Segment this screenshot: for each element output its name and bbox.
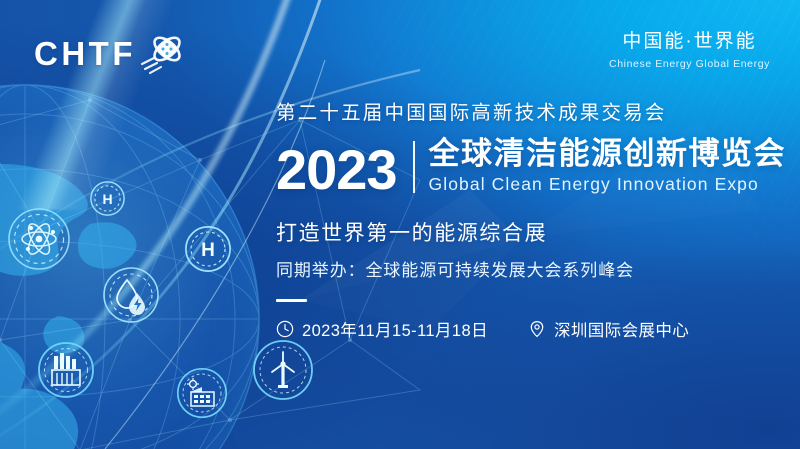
- svg-text:H: H: [201, 240, 215, 261]
- badge-water-energy: [103, 267, 159, 323]
- brand-en-text: Chinese Energy Global Energy: [609, 58, 770, 70]
- logo-wordmark: CHTF: [34, 37, 136, 70]
- hydrogen-h-icon: H: [90, 181, 125, 216]
- event-year: 2023: [276, 144, 397, 196]
- event-kicker: 第二十五届中国国际高新技术成果交易会: [276, 104, 786, 124]
- clock-icon: [276, 320, 294, 338]
- badge-solar-building: [177, 368, 227, 418]
- svg-text:H: H: [102, 191, 112, 207]
- event-venue-text: 深圳国际会展中心: [554, 317, 689, 341]
- title-group: 全球清洁能源创新博览会 Global Clean Energy Innovati…: [429, 138, 787, 196]
- badge-hydrogen-large: H: [185, 226, 231, 272]
- event-title-en: Global Clean Energy Innovation Expo: [429, 175, 787, 194]
- event-meta-row: 2023年11月15-11月18日 深圳国际会展中心: [276, 317, 786, 341]
- poster-copy-block: 第二十五届中国国际高新技术成果交易会 2023 全球清洁能源创新博览会 Glob…: [276, 104, 786, 341]
- chtf-logo[interactable]: CHTF: [34, 30, 186, 76]
- factory-icon: [38, 342, 94, 398]
- brand-lockup-top-right: 中国能·世界能 Chinese Energy Global Energy: [609, 30, 770, 70]
- headline-row: 2023 全球清洁能源创新博览会 Global Clean Energy Inn…: [276, 138, 786, 196]
- event-subline: 同期举办：全球能源可持续发展大会系列峰会: [276, 256, 786, 281]
- poster-canvas: H H: [0, 0, 800, 449]
- hydrogen-h-icon: H: [185, 226, 231, 272]
- brand-cn-text: 中国能·世界能: [609, 30, 770, 54]
- event-slogan: 打造世界第一的能源综合展: [276, 217, 786, 247]
- atom-icon: [8, 208, 70, 270]
- solar-building-icon: [177, 368, 227, 418]
- copy-rule: [276, 299, 307, 302]
- badge-wind-turbine: [253, 340, 313, 400]
- wind-turbine-icon: [253, 340, 313, 400]
- meta-item-venue: 深圳国际会展中心: [528, 317, 689, 341]
- meta-item-date: 2023年11月15-11月18日: [276, 317, 488, 341]
- event-date-text: 2023年11月15-11月18日: [302, 317, 488, 341]
- badge-hydrogen-small: H: [90, 181, 125, 216]
- event-title-cn: 全球清洁能源创新博览会: [429, 138, 787, 171]
- chtf-orbit-emblem-icon: [140, 30, 186, 76]
- headline-divider: [413, 141, 415, 193]
- location-pin-icon: [528, 320, 546, 338]
- badge-factory: [38, 342, 94, 398]
- water-drop-energy-icon: [103, 267, 159, 323]
- badge-atom: [8, 208, 70, 270]
